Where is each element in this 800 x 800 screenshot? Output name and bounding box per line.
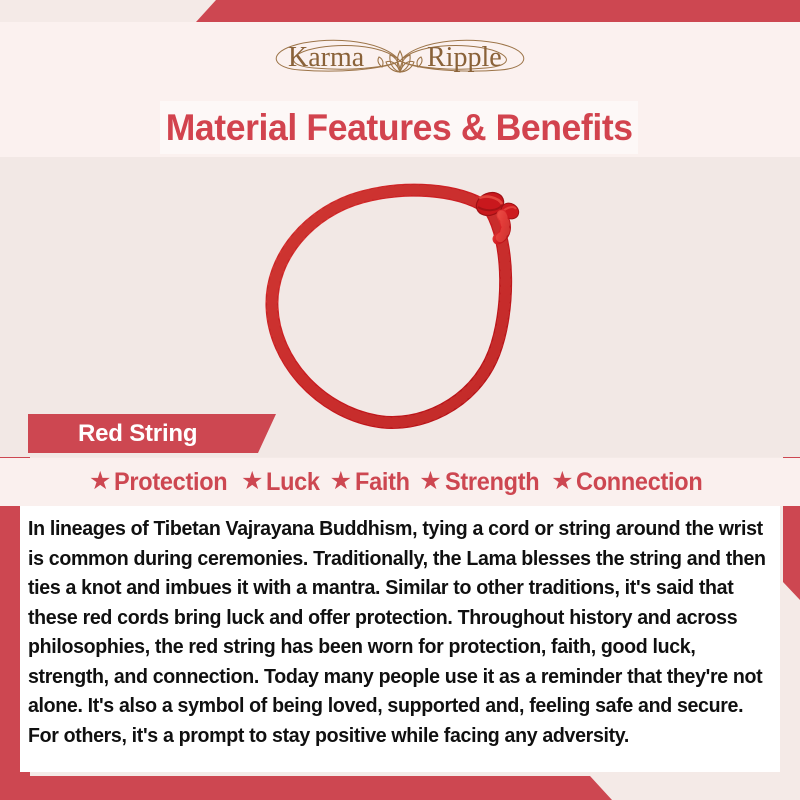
page-title: Material Features & Benefits [166, 107, 633, 149]
infographic-root: Karma Ripple Material Features & Benefit… [0, 0, 800, 800]
star-icon: ★ [241, 469, 263, 494]
red-string-bracelet-image [258, 171, 548, 441]
product-image-area [0, 157, 800, 457]
benefit-item-faith: ★ Faith [330, 468, 414, 497]
decorative-top-band [0, 0, 800, 22]
brand-name-left: Karma [288, 42, 364, 74]
description-paragraph: In lineages of Tibetan Vajrayana Buddhis… [28, 514, 776, 750]
brand-logo: Karma Ripple [0, 30, 800, 92]
material-name-banner: Red String [28, 414, 276, 453]
material-name-label: Red String [78, 420, 197, 448]
benefit-label: Strength [445, 468, 539, 497]
benefit-item-connection: ★ Connection [551, 468, 711, 497]
star-icon: ★ [89, 469, 111, 494]
benefit-item-protection: ★ Protection [89, 468, 235, 497]
benefits-list: ★ Protection ★ Luck ★ Faith ★ Strength ★… [0, 458, 800, 506]
benefit-label: Faith [355, 468, 410, 497]
decorative-bottom-band [0, 776, 800, 800]
benefit-label: Luck [266, 468, 320, 497]
benefit-item-luck: ★ Luck [241, 468, 324, 497]
page-title-band: Material Features & Benefits [160, 101, 638, 154]
star-icon: ★ [551, 469, 573, 494]
benefit-label: Connection [576, 468, 702, 497]
description-panel: In lineages of Tibetan Vajrayana Buddhis… [20, 506, 780, 772]
star-icon: ★ [330, 469, 352, 494]
star-icon: ★ [419, 469, 441, 494]
benefit-label: Protection [114, 468, 227, 497]
benefit-item-strength: ★ Strength [419, 468, 545, 497]
brand-name-right: Ripple [427, 42, 502, 74]
